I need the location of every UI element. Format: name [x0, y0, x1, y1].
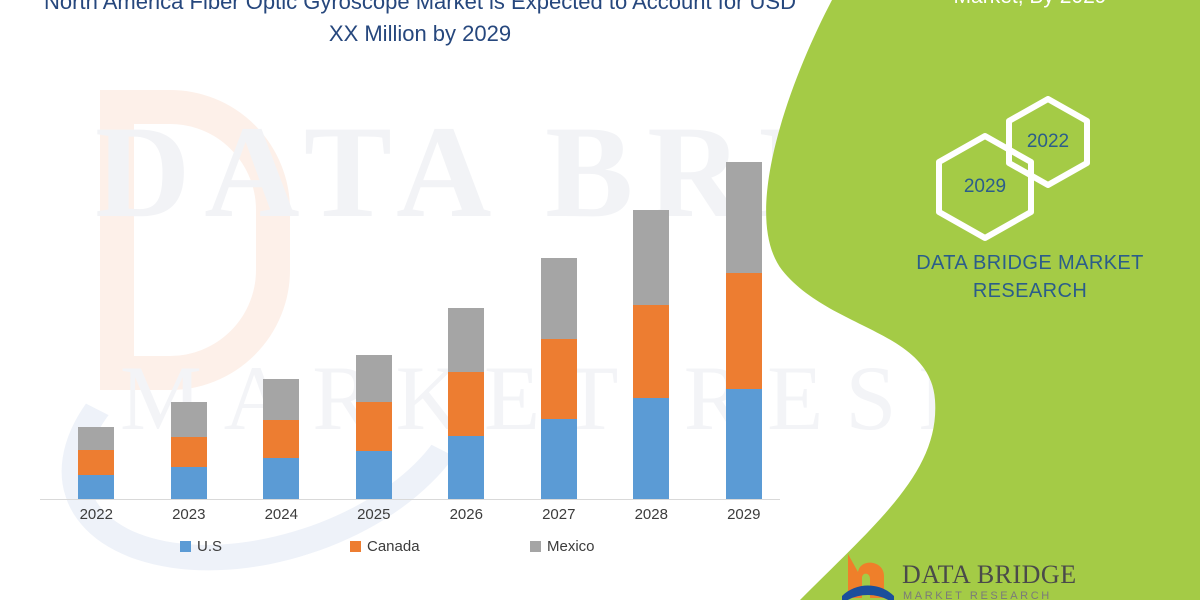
logo-text-sub: MARKET RESEARCH [903, 590, 1052, 600]
x-axis-tick-2028: 2028 [621, 506, 681, 523]
x-axis-tick-2027: 2027 [529, 506, 589, 523]
bar-2027[interactable] [541, 258, 577, 499]
bar-2023[interactable] [171, 402, 207, 499]
bar-segment-mexico-2022 [78, 427, 114, 450]
bar-segment-canada-2024 [263, 420, 299, 458]
bar-segment-canada-2027 [541, 339, 577, 419]
bar-2029[interactable] [726, 162, 762, 499]
bar-2025[interactable] [356, 355, 392, 499]
bar-segment-canada-2028 [633, 305, 669, 398]
bar-segment-us-2024 [263, 458, 299, 499]
x-axis-tick-2022: 2022 [66, 506, 126, 523]
chart-legend: U.SCanadaMexico [40, 538, 780, 564]
hexagon-2029-label: 2029 [964, 176, 1006, 198]
x-axis-tick-2024: 2024 [251, 506, 311, 523]
x-axis-tick-2026: 2026 [436, 506, 496, 523]
bar-segment-us-2029 [726, 389, 762, 499]
brand-name-line2: RESEARCH [860, 280, 1200, 303]
logo-mark-icon [840, 552, 896, 600]
chart-plot-area [40, 140, 780, 500]
bar-segment-us-2022 [78, 475, 114, 499]
legend-item-us[interactable]: U.S [180, 538, 222, 555]
bar-segment-us-2028 [633, 398, 669, 499]
legend-label: U.S [197, 538, 222, 555]
bar-segment-mexico-2027 [541, 258, 577, 339]
bar-segment-mexico-2025 [356, 355, 392, 402]
bar-2028[interactable] [633, 210, 669, 499]
bar-segment-mexico-2026 [448, 308, 484, 372]
hexagon-2022-label: 2022 [1027, 131, 1069, 153]
brand-name-line1: DATA BRIDGE MARKET [860, 252, 1200, 275]
bar-segment-us-2025 [356, 451, 392, 499]
x-axis-tick-2025: 2025 [344, 506, 404, 523]
hexagon-2022: 2022 [1005, 96, 1091, 188]
bar-segment-mexico-2029 [726, 162, 762, 273]
bar-segment-us-2026 [448, 436, 484, 499]
bar-2022[interactable] [78, 427, 114, 499]
logo-text-main: DATA BRIDGE [902, 560, 1077, 590]
legend-item-mexico[interactable]: Mexico [530, 538, 595, 555]
bar-segment-canada-2025 [356, 402, 392, 451]
legend-label: Canada [367, 538, 420, 555]
bar-2024[interactable] [263, 379, 299, 499]
legend-swatch-icon [350, 541, 361, 552]
bar-segment-canada-2029 [726, 273, 762, 389]
green-panel-title: Market, By 2029 [860, 0, 1200, 12]
infographic-root: DATA BRIDGE MARKET RESEARCH North Americ… [0, 0, 1200, 600]
chart-title: North America Fiber Optic Gyroscope Mark… [40, 0, 800, 50]
x-axis-labels: 20222023202420252026202720282029 [40, 506, 780, 532]
legend-label: Mexico [547, 538, 595, 555]
bar-segment-canada-2022 [78, 450, 114, 475]
chart-baseline [40, 499, 780, 500]
x-axis-tick-2023: 2023 [159, 506, 219, 523]
legend-swatch-icon [530, 541, 541, 552]
bar-segment-canada-2023 [171, 437, 207, 467]
bar-segment-canada-2026 [448, 372, 484, 436]
bar-segment-us-2027 [541, 419, 577, 499]
bar-segment-mexico-2024 [263, 379, 299, 420]
data-bridge-logo: DATA BRIDGE MARKET RESEARCH [840, 552, 1180, 600]
legend-item-canada[interactable]: Canada [350, 538, 420, 555]
bar-segment-us-2023 [171, 467, 207, 499]
bar-2026[interactable] [448, 308, 484, 499]
bar-segment-mexico-2023 [171, 402, 207, 437]
legend-swatch-icon [180, 541, 191, 552]
bar-segment-mexico-2028 [633, 210, 669, 305]
